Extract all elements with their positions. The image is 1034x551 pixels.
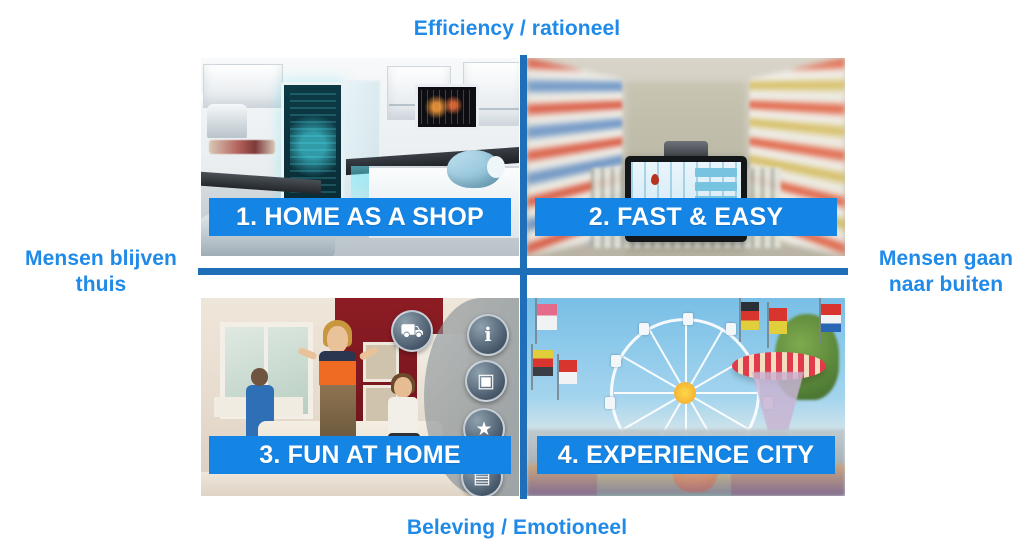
quadrant-caption-1: 1. HOME AS A SHOP <box>209 198 511 236</box>
wheel-gondola <box>611 355 621 367</box>
flag-cloth <box>559 360 577 384</box>
info-glyph: ℹ <box>484 326 491 345</box>
kitchen-wall-display <box>415 84 479 130</box>
axis-label-bottom: Beleving / Emotioneel <box>0 515 1034 541</box>
quadrant-fun-at-home[interactable]: ⛟ ℹ ▣ ★ ▤ 3. FUN AT HOME <box>201 298 519 496</box>
quadrant-fast-and-easy[interactable]: 2. FAST & EASY <box>527 58 845 256</box>
fair-flag <box>557 360 577 390</box>
person-torso <box>319 351 356 386</box>
person-head <box>394 377 412 398</box>
fair-flag <box>535 304 555 334</box>
quadrant-home-as-a-shop[interactable]: 1. HOME AS A SHOP <box>201 58 519 256</box>
axis-label-top: Efficiency / rationeel <box>0 16 1034 42</box>
info-icon[interactable]: ℹ <box>467 314 509 356</box>
kitchen-appliance <box>207 104 247 138</box>
wheel-gondola <box>605 397 615 409</box>
kitchen-cabinet <box>203 64 283 108</box>
shopping-cart-icon[interactable]: ⛟ <box>391 310 433 352</box>
matrix-divider-vertical <box>520 55 527 499</box>
axis-label-left: Mensen blijven thuis <box>8 246 194 298</box>
wheel-gondola <box>683 313 693 325</box>
quadrant-caption-2: 2. FAST & EASY <box>535 198 837 236</box>
fair-flag <box>739 302 759 332</box>
quadrant-matrix: 1. HOME AS A SHOP 2. <box>201 58 845 496</box>
matrix-divider-horizontal <box>198 268 848 275</box>
map-card <box>695 182 737 191</box>
kitchen-food-tray <box>209 140 275 154</box>
axis-label-right: Mensen gaan naar buiten <box>862 246 1030 298</box>
wheel-hub <box>674 382 696 404</box>
camera-icon[interactable]: ▣ <box>465 360 507 402</box>
fair-flag <box>531 350 551 380</box>
fair-flag <box>767 308 787 338</box>
person-head <box>327 326 347 353</box>
shopping-cart-glyph: ⛟ <box>400 322 424 341</box>
quadrant-caption-4: 4. EXPERIENCE CITY <box>537 436 835 474</box>
flag-cloth <box>533 350 553 376</box>
map-pin-icon <box>651 174 659 185</box>
flag-cloth <box>769 308 787 334</box>
person-torso <box>388 397 417 435</box>
kitchen-blue-object <box>447 150 501 188</box>
flag-cloth <box>537 304 557 330</box>
map-card <box>695 168 737 177</box>
quadrant-experience-city[interactable]: 4. EXPERIENCE CITY <box>527 298 845 496</box>
wheel-gondola <box>639 323 649 335</box>
flag-cloth <box>741 302 759 330</box>
quadrant-caption-3: 3. FUN AT HOME <box>209 436 511 474</box>
camera-glyph: ▣ <box>477 372 495 391</box>
flag-cloth <box>821 304 841 332</box>
fair-flag <box>819 304 839 334</box>
